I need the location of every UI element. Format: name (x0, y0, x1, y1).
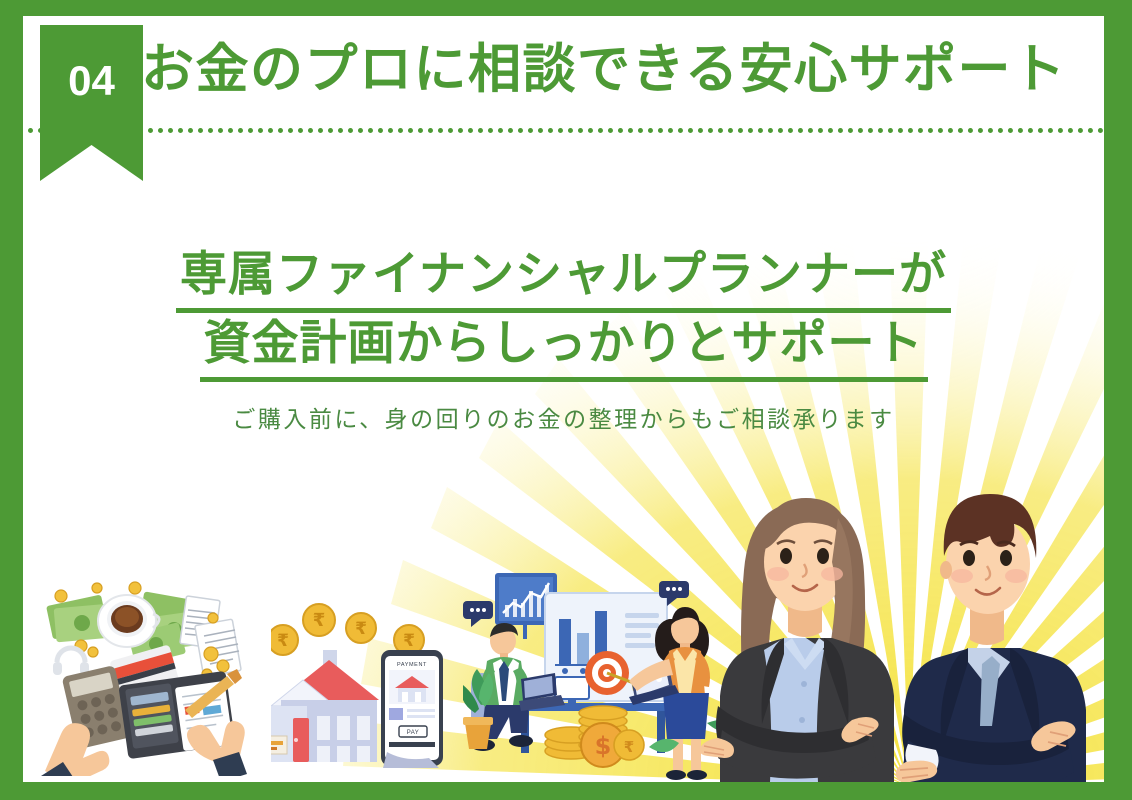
money-desk-illustration (35, 566, 265, 776)
illustration-strip: ₹ ₹ ₹ ₹ (23, 452, 1104, 782)
headline-line-2: 資金計画からしっかりとサポート (200, 313, 928, 382)
header-dotted-divider (28, 128, 1104, 133)
header-section: 04 お金のプロに相談できる安心サポート (23, 16, 1104, 146)
section-number-label: 04 (40, 25, 143, 137)
headline-line-1: 専属ファイナンシャルプランナーが (176, 244, 951, 313)
svg-text:₹: ₹ (277, 631, 289, 651)
section-number-ribbon: 04 (40, 25, 143, 181)
house-payment-illustration: ₹ ₹ ₹ ₹ (271, 588, 471, 778)
female-financial-planner-figure (700, 498, 894, 782)
headphones-icon (57, 648, 85, 662)
svg-text:PAYMENT: PAYMENT (397, 662, 427, 668)
coin-stack-icon: $ ₹ (545, 706, 644, 767)
svg-text:PAY: PAY (407, 730, 420, 736)
svg-text:$: $ (595, 732, 612, 760)
headline-block: 専属ファイナンシャルプランナーが 資金計画からしっかりとサポート ご購入前に、身… (23, 244, 1104, 434)
house-icon (271, 650, 379, 762)
payment-smartphone-icon: PAYMENT PAY (381, 650, 443, 766)
receipt-document-icon (180, 596, 241, 677)
slide-root: 04 お金のプロに相談できる安心サポート 専属ファイナンシャルプランナーが 資金… (0, 0, 1132, 800)
rupee-coins-icon: ₹ ₹ ₹ ₹ (271, 604, 424, 655)
svg-text:₹: ₹ (403, 631, 415, 651)
chat-bubble-icon (463, 601, 493, 627)
male-financial-planner-figure (896, 494, 1086, 782)
advisor-duo-illustration (692, 452, 1104, 782)
headline-subtitle: ご購入前に、身の回りのお金の整理からもご相談承ります (23, 400, 1104, 434)
svg-text:₹: ₹ (313, 610, 326, 631)
slide-canvas: 04 お金のプロに相談できる安心サポート 専属ファイナンシャルプランナーが 資金… (23, 16, 1104, 782)
svg-text:₹: ₹ (624, 738, 634, 756)
page-title: お金のプロに相談できる安心サポート (141, 42, 1098, 98)
svg-text:₹: ₹ (355, 619, 367, 639)
